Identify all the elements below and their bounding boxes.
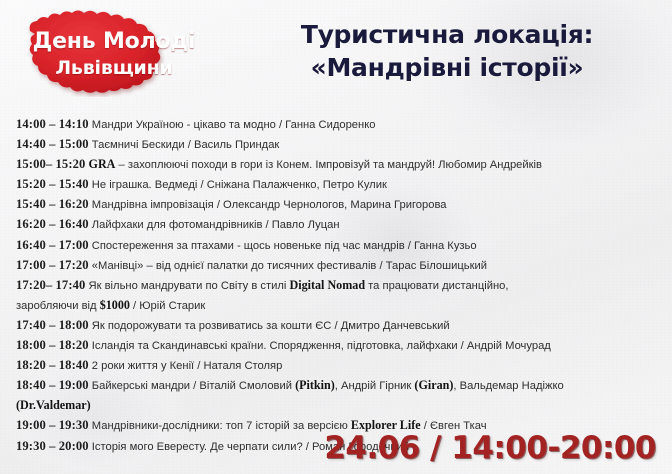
page-title-line-2: «Мандрівні історії» <box>232 51 662 84</box>
schedule-row: 18:20 – 18:40 2 роки життя у Кенії / Нат… <box>16 356 664 376</box>
logo-line-2: Львівщини <box>14 57 214 79</box>
schedule-row: (Dr.Valdemar) <box>16 396 664 416</box>
schedule-row: 18:00 – 18:20 Ісландія та Скандинавські … <box>16 336 664 356</box>
schedule-row-time: 18:40 – 19:00 <box>16 378 89 392</box>
schedule-row-desc: Лайфхаки для фотомандрівників / Павло Лу… <box>89 219 340 231</box>
schedule-row-em: GRA <box>89 157 116 171</box>
schedule-row: 17:00 – 17:20 «Манівці» – від однієї пал… <box>16 256 664 276</box>
schedule-row-desc_pre: Мандрівники-дослідники: топ 7 історій за… <box>89 420 351 432</box>
page-title-line-1: Туристична локація: <box>232 18 662 51</box>
schedule-row-desc_pre: Як вільно мандрувати по Світу в стилі <box>85 280 289 292</box>
schedule-row-em: Digital Nomad <box>289 278 365 292</box>
schedule-row-time: 15:40 – 16:20 <box>16 197 89 211</box>
poster-canvas: День Молоді Львівщини Туристична локація… <box>0 0 672 474</box>
schedule-row-desc: 2 роки життя у Кенії / Наталя Столяр <box>89 360 283 372</box>
schedule-row-desc: Таємничі Бескиди / Василь Приндак <box>89 139 280 151</box>
schedule-row-em: (Dr.Valdemar) <box>16 398 91 412</box>
schedule-row-time: 19:00 – 19:30 <box>16 418 89 432</box>
schedule-row: 16:20 – 16:40 Лайфхаки для фотомандрівни… <box>16 215 664 235</box>
schedule-row-time: 17:00 – 17:20 <box>16 258 89 272</box>
schedule-row-desc: Мандрівна імпровізація / Олександр Черно… <box>89 199 447 211</box>
schedule-row-time: 14:40 – 15:00 <box>16 137 89 151</box>
schedule-row-desc: Ісландія та Скандинавські країни. Споряд… <box>89 340 551 352</box>
schedule-row: 16:40 – 17:00 Спостереження за птахами -… <box>16 236 664 256</box>
schedule-row: 15:20 – 15:40 Не іграшка. Ведмеді / Сніж… <box>16 175 664 195</box>
schedule-row-time: 15:00– 15:20 <box>16 157 85 171</box>
schedule-row: 18:40 – 19:00 Байкерські мандри / Віталі… <box>16 376 664 396</box>
logo-line-1: День Молоді <box>14 29 214 54</box>
schedule-row-em: $1000 <box>100 298 130 312</box>
schedule-row-desc_pre: заробляючи від <box>16 300 100 312</box>
schedule-row-desc: Спостереження за птахами - щось новеньке… <box>89 240 477 252</box>
schedule-row-desc: / Юрій Старик <box>130 300 205 312</box>
schedule-row-desc: «Манівці» – від однієї палатки до тисячн… <box>89 260 487 272</box>
schedule-row-time: 15:20 – 15:40 <box>16 177 89 191</box>
schedule-row-desc: Не іграшка. Ведмеді / Сніжана Палажченко… <box>89 179 387 191</box>
schedule-row-time: 16:40 – 17:00 <box>16 238 89 252</box>
schedule-row-time: 17:40 – 18:00 <box>16 318 89 332</box>
schedule-row-time: 18:00 – 18:20 <box>16 338 89 352</box>
page-title: Туристична локація: «Мандрівні історії» <box>232 18 662 84</box>
schedule-row: заробляючи від $1000 / Юрій Старик <box>16 296 664 316</box>
schedule-row: 17:20– 17:40 Як вільно мандрувати по Сві… <box>16 276 664 296</box>
schedule-row-em2: (Giran) <box>414 378 453 392</box>
schedule-row-time: 16:20 – 16:40 <box>16 217 89 231</box>
schedule-row-time: 17:20– 17:40 <box>16 278 85 292</box>
schedule-row-desc: та працювати дистанційно, <box>365 280 508 292</box>
schedule-row-desc: , Андрій Гірник <box>335 380 415 392</box>
schedule-list: 14:00 – 14:10 Мандри Україною - цікаво т… <box>16 115 664 457</box>
schedule-row: 15:40 – 16:20 Мандрівна імпровізація / О… <box>16 195 664 215</box>
schedule-row-desc: Як подорожувати та розвиватись за кошти … <box>89 320 450 332</box>
schedule-row: 17:40 – 18:00 Як подорожувати та розвива… <box>16 316 664 336</box>
schedule-row: 14:40 – 15:00 Таємничі Бескиди / Василь … <box>16 135 664 155</box>
schedule-row-time: 19:30 – 20:00 <box>16 439 89 453</box>
schedule-row-desc: – захоплюючі походи в гори із Конем. Імп… <box>115 159 542 171</box>
schedule-row: 14:00 – 14:10 Мандри Україною - цікаво т… <box>16 115 664 135</box>
schedule-row-time: 14:00 – 14:10 <box>16 117 89 131</box>
schedule-row-desc_pre: Байкерські мандри / Віталій Смоловий <box>89 380 295 392</box>
schedule-row-desc2: , Вальдемар Надіжко <box>453 380 563 392</box>
schedule-row-em: (Pitkin) <box>295 378 335 392</box>
schedule-row-desc: Мандри Україною - цікаво та модно / Ганн… <box>89 119 376 131</box>
schedule-row-time: 18:20 – 18:40 <box>16 358 89 372</box>
event-date-time: 24.06 / 14:00-20:00 <box>324 430 656 466</box>
schedule-row: 15:00– 15:20 GRA – захоплюючі походи в г… <box>16 155 664 175</box>
event-logo: День Молоді Львівщини <box>14 9 214 97</box>
